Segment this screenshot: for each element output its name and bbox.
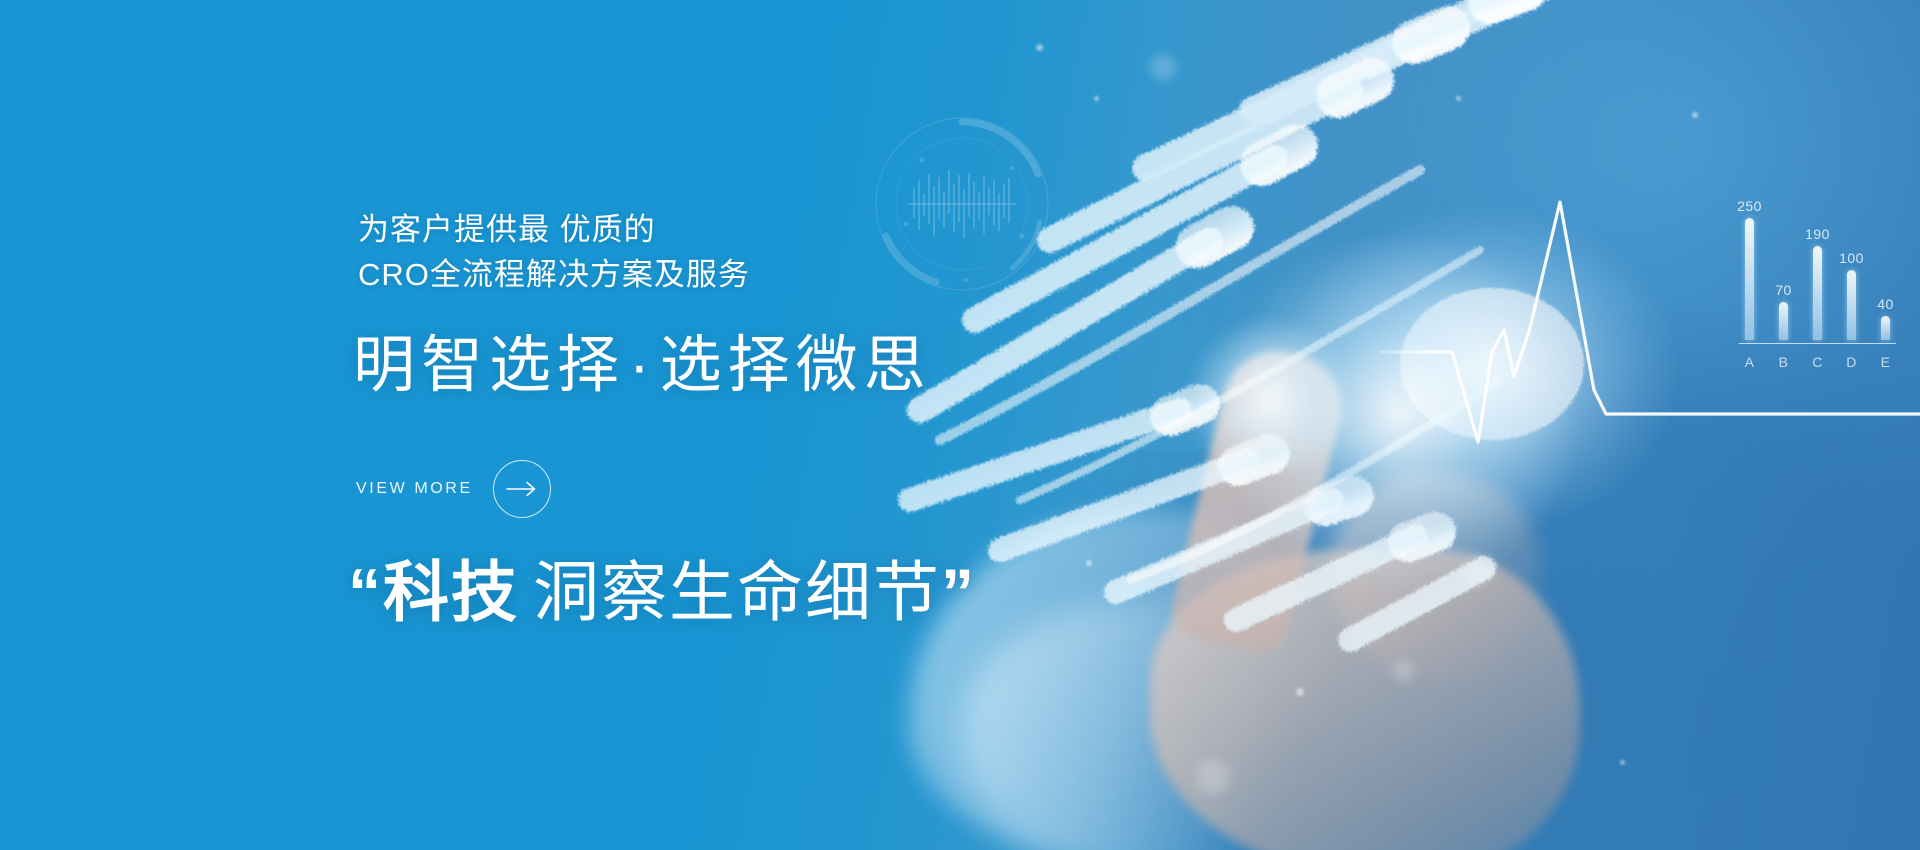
chart-bar (1813, 246, 1822, 340)
chart-category-label: A (1741, 354, 1758, 370)
view-more-label: VIEW MORE (356, 480, 473, 498)
page-title: 明智选择·选择微思 (353, 332, 932, 400)
bokeh-particle (1456, 96, 1461, 101)
chart-column: 40 (1877, 216, 1894, 340)
bokeh-particle (1196, 760, 1230, 794)
chart-value-label: 190 (1805, 226, 1830, 242)
hero-content: 为客户提供最 优质的 CRO全流程解决方案及服务 明智选择·选择微思 VIEW … (0, 0, 1100, 850)
hero-banner: 250 70 190 100 40 A B C (0, 0, 1920, 850)
tagline-strong: 科技 (383, 555, 519, 629)
chart-category-label: C (1809, 354, 1826, 370)
subtitle-block: 为客户提供最 优质的 CRO全流程解决方案及服务 (358, 207, 750, 297)
arrow-right-icon[interactable] (493, 460, 551, 518)
headline-left: 明智选择 (353, 331, 625, 400)
subtitle-line-1: 为客户提供最 优质的 (358, 207, 750, 252)
mini-bar-chart: 250 70 190 100 40 A B C (1735, 196, 1900, 376)
chart-category-labels: A B C D E (1735, 354, 1900, 370)
chart-value-label: 100 (1839, 250, 1864, 266)
chart-category-label: E (1877, 354, 1894, 370)
tagline: “科技洞察生命细节” (348, 555, 976, 631)
tagline-open-quote: “ (348, 555, 383, 629)
chart-bar (1881, 316, 1890, 340)
chart-bar (1745, 218, 1754, 340)
bokeh-particle (1462, 556, 1492, 586)
bokeh-particle (1150, 54, 1176, 80)
chart-column: 70 (1775, 216, 1792, 340)
bokeh-particle (1620, 760, 1625, 765)
chart-value-label: 70 (1775, 282, 1792, 298)
headline-right: 选择微思 (660, 331, 932, 400)
chart-value-label: 40 (1877, 296, 1894, 312)
chart-bars: 250 70 190 100 40 (1735, 216, 1900, 340)
bokeh-particle (1296, 688, 1304, 696)
chart-column: 190 (1809, 216, 1826, 340)
chart-bar (1779, 302, 1788, 340)
bokeh-particle (1692, 112, 1698, 118)
tagline-light: 洞察生命细节 (519, 555, 941, 629)
tagline-close-quote: ” (941, 555, 976, 629)
headline-separator: · (625, 331, 660, 400)
chart-bar (1847, 270, 1856, 340)
subtitle-line-2: CRO全流程解决方案及服务 (358, 252, 750, 297)
chart-category-label: D (1843, 354, 1860, 370)
chart-axis-line (1739, 343, 1896, 345)
chart-column: 250 (1741, 216, 1758, 340)
chart-column: 100 (1843, 216, 1860, 340)
chart-value-label: 250 (1737, 198, 1762, 214)
chart-category-label: B (1775, 354, 1792, 370)
bokeh-particle (1392, 660, 1414, 682)
view-more-button[interactable]: VIEW MORE (356, 460, 551, 518)
